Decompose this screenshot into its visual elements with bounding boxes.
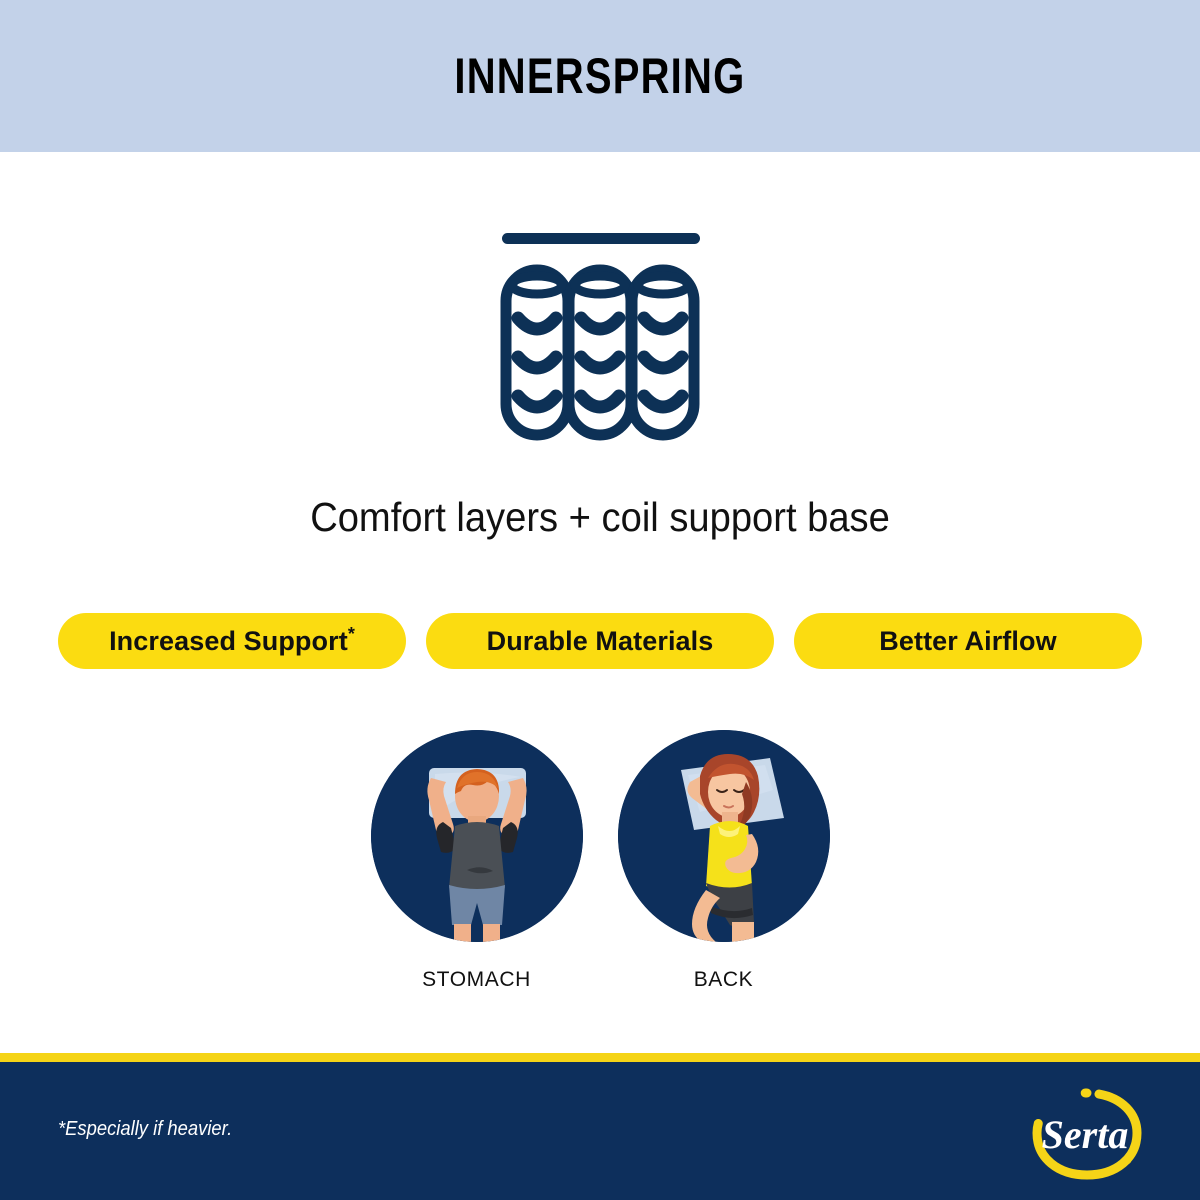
headline-text: Comfort layers + coil support base: [42, 494, 1158, 541]
head-shape: [455, 769, 499, 822]
benefit-pill-increased-support[interactable]: Increased Support*: [58, 613, 406, 669]
coil-1-icon: [506, 270, 568, 435]
footnote-marker: *: [348, 624, 355, 644]
coil-3-icon: [632, 270, 694, 435]
benefit-label: Better Airflow: [879, 626, 1056, 656]
footnote-text: *Especially if heavier.: [58, 1118, 232, 1141]
support-bar-icon: [502, 233, 700, 244]
header-band: INNERSPRING: [0, 0, 1200, 152]
sleeper-label-back: BACK: [694, 968, 754, 992]
innerspring-coils-icon: [470, 205, 730, 455]
stomach-sleeper-illustration: [371, 730, 583, 942]
benefit-pill-durable-materials[interactable]: Durable Materials: [426, 613, 774, 669]
registered-mark: ®: [1125, 1156, 1132, 1166]
footer-accent-rule: [0, 1053, 1200, 1062]
serta-wordmark: Serta: [1042, 1112, 1129, 1157]
infographic-page: INNERSPRING: [0, 0, 1200, 1200]
page-title: INNERSPRING: [454, 47, 745, 105]
benefit-label: Increased Support: [109, 626, 348, 656]
serta-logo[interactable]: Serta ®: [1032, 1086, 1142, 1182]
sleeper-card-back[interactable]: BACK: [618, 730, 830, 992]
sleeper-card-stomach[interactable]: STOMACH: [371, 730, 583, 992]
benefit-pill-row: Increased Support* Durable Materials Bet…: [58, 613, 1142, 669]
sleeper-label-stomach: STOMACH: [422, 968, 531, 992]
benefit-pill-better-airflow[interactable]: Better Airflow: [794, 613, 1142, 669]
coil-2-icon: [569, 270, 631, 435]
back-sleeper-illustration: [618, 730, 830, 942]
benefit-label: Durable Materials: [487, 626, 714, 656]
sleeper-positions-row: STOMACH: [0, 730, 1200, 992]
icon-container: [0, 205, 1200, 455]
